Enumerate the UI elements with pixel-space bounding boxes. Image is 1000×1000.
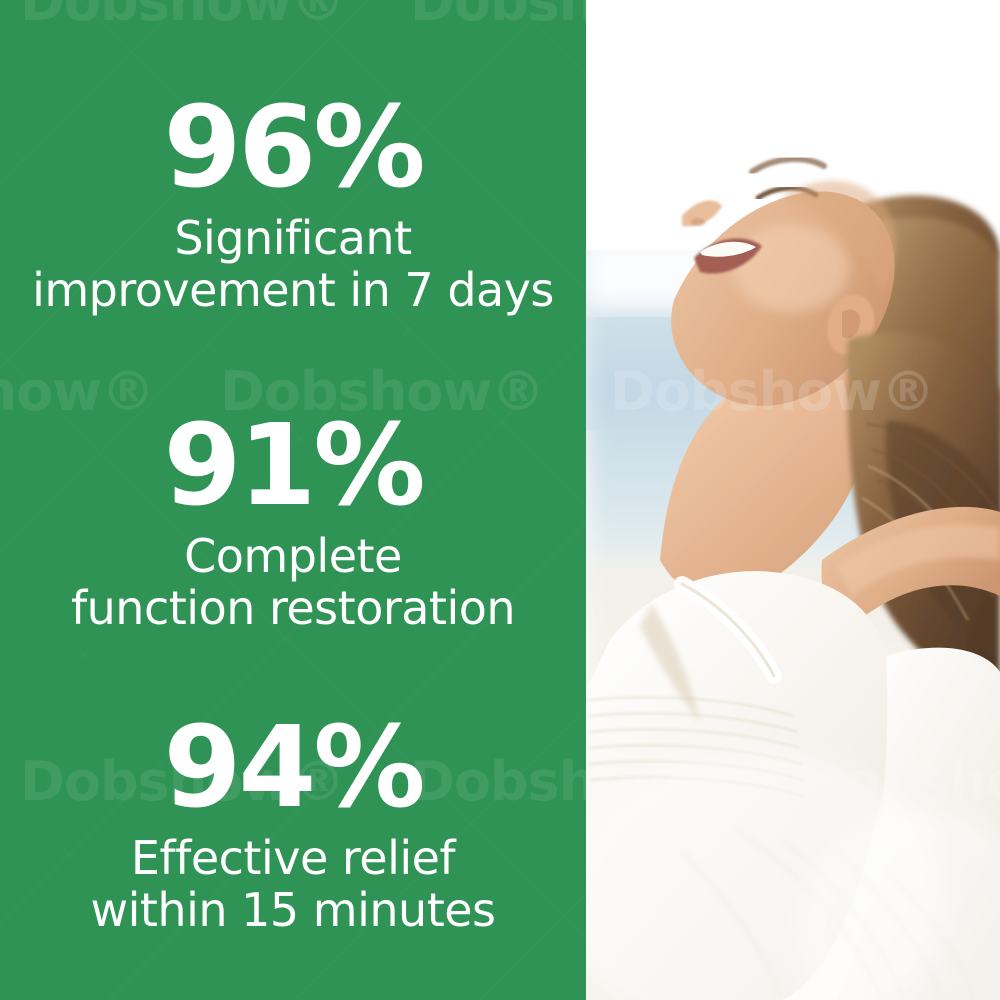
stat-caption-2-line-1: Complete (0, 530, 586, 582)
stat-block-91: 91% Complete function restoration (0, 410, 586, 635)
woman-on-beach-illustration (586, 0, 1000, 1000)
stat-caption-1-line-1: Significant (0, 212, 586, 264)
stat-block-96: 96% Significant improvement in 7 days (0, 92, 586, 317)
promo-image-canvas: 96% Significant improvement in 7 days 91… (0, 0, 1000, 1000)
stat-caption-3-line-1: Effective relief (0, 832, 586, 884)
stat-caption-3: Effective relief within 15 minutes (0, 832, 586, 937)
stat-block-94: 94% Effective relief within 15 minutes (0, 712, 586, 937)
lifestyle-photo (586, 0, 1000, 1000)
stat-number-1: 96% (0, 92, 586, 204)
statistics-panel: 96% Significant improvement in 7 days 91… (0, 0, 586, 1000)
stat-caption-2: Complete function restoration (0, 530, 586, 635)
stat-caption-3-line-2: within 15 minutes (0, 884, 586, 936)
stat-caption-2-line-2: function restoration (0, 582, 586, 634)
stat-number-2: 91% (0, 410, 586, 522)
stat-caption-1-line-2: improvement in 7 days (0, 264, 586, 316)
stat-caption-1: Significant improvement in 7 days (0, 212, 586, 317)
stat-number-3: 94% (0, 712, 586, 824)
